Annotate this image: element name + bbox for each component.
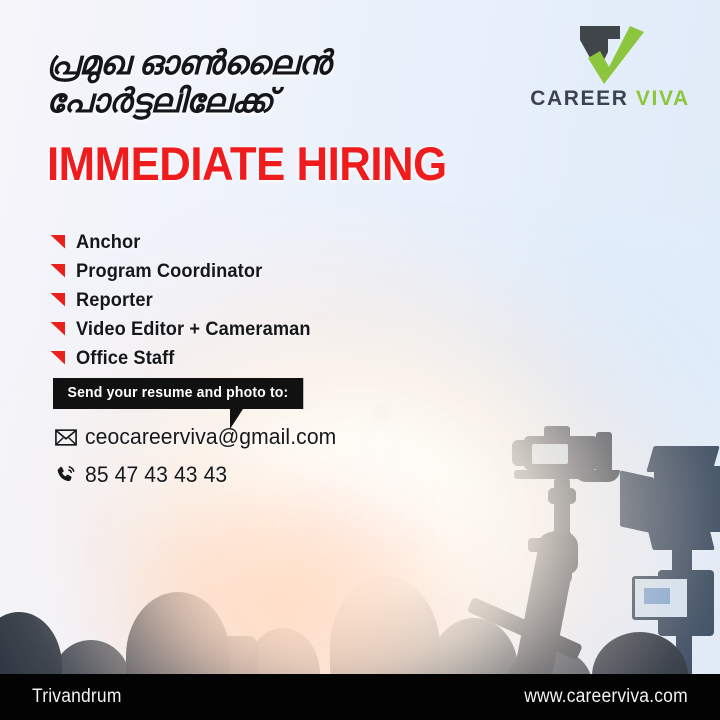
job-title: Program Coordinator bbox=[76, 261, 262, 283]
red-triangle-icon bbox=[50, 264, 65, 278]
list-item: Program Coordinator bbox=[50, 257, 320, 286]
malayalam-headline: പ്രമുഖ ഓൺലൈൻ പോർട്ടലിലേക്ക് bbox=[46, 44, 476, 121]
immediate-hiring-title: IMMEDIATE HIRING bbox=[47, 140, 447, 187]
job-title: Video Editor + Cameraman bbox=[76, 319, 311, 341]
malayalam-line-1: പ്രമുഖ ഓൺലൈൻ bbox=[46, 44, 476, 82]
phone-row[interactable]: 85 47 43 43 43 bbox=[55, 462, 347, 488]
email-row[interactable]: ceocareerviva@gmail.com bbox=[55, 424, 347, 450]
recruitment-poster: CAREER VIVA പ്രമുഖ ഓൺലൈൻ പോർട്ടലിലേക്ക് … bbox=[0, 0, 720, 720]
brand-logo: CAREER VIVA bbox=[528, 22, 692, 109]
footer-bar: Trivandrum www.careerviva.com bbox=[0, 674, 720, 720]
red-triangle-icon bbox=[50, 293, 65, 307]
red-triangle-icon bbox=[50, 322, 65, 336]
job-openings-list: Anchor Program Coordinator Reporter Vide… bbox=[50, 228, 320, 373]
job-title: Office Staff bbox=[76, 348, 174, 370]
red-triangle-icon bbox=[50, 351, 65, 365]
envelope-icon bbox=[55, 429, 85, 446]
footer-website[interactable]: www.careerviva.com bbox=[524, 686, 688, 708]
list-item: Reporter bbox=[50, 286, 320, 315]
career-viva-checkmark-icon bbox=[564, 22, 656, 84]
list-item: Anchor bbox=[50, 228, 320, 257]
phone-ringing-icon bbox=[55, 464, 85, 486]
brand-word-career: CAREER bbox=[530, 87, 628, 110]
contact-block: ceocareerviva@gmail.com 85 47 43 43 43 bbox=[55, 424, 347, 500]
callout-text: Send your resume and photo to: bbox=[53, 378, 303, 409]
brand-wordmark: CAREER VIVA bbox=[528, 88, 692, 109]
resume-callout: Send your resume and photo to: bbox=[53, 378, 311, 409]
footer-location: Trivandrum bbox=[32, 686, 122, 708]
job-title: Reporter bbox=[76, 290, 153, 312]
list-item: Office Staff bbox=[50, 344, 320, 373]
brand-word-viva: VIVA bbox=[636, 87, 690, 110]
list-item: Video Editor + Cameraman bbox=[50, 315, 320, 344]
malayalam-line-2: പോർട്ടലിലേക്ക് bbox=[46, 82, 476, 120]
email-address: ceocareerviva@gmail.com bbox=[85, 424, 336, 450]
job-title: Anchor bbox=[76, 232, 140, 254]
red-triangle-icon bbox=[50, 235, 65, 249]
phone-number: 85 47 43 43 43 bbox=[85, 462, 227, 488]
